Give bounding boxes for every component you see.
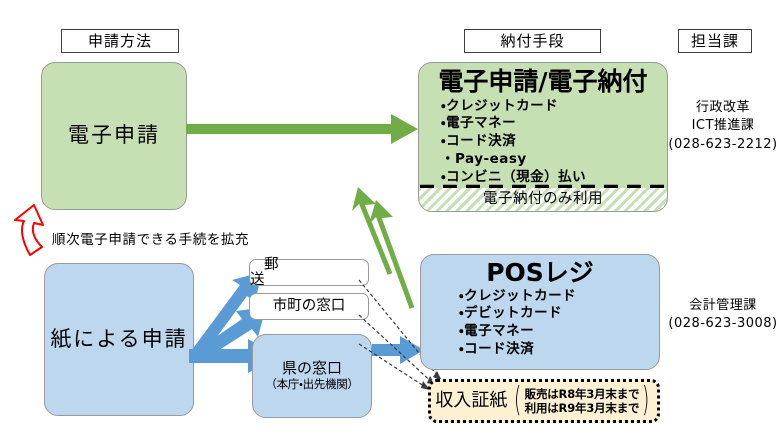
bullet-code-payment: ・コード決済 — [441, 133, 586, 151]
header-payment-method: 納付手段 — [464, 29, 601, 53]
diagram-canvas: 申請方法 納付手段 担当課 電子申請 電子申請/電子納付 ・クレジットカード ・… — [0, 0, 778, 438]
revenue-stamp-note-line1: 販売はR8年3月末まで — [525, 387, 640, 401]
dept-ict-section: 行政改革 ICT推進課 (028-623-2212) — [668, 99, 778, 154]
dept-ict-line2: ICT推進課 — [668, 117, 778, 135]
arrow-online-to-epay — [186, 110, 426, 150]
box-online-application[interactable]: 電子申請 — [41, 62, 187, 210]
pos-bullet-code-payment: ・コード決済 — [459, 341, 576, 359]
box-online-application-label: 電子申請 — [68, 124, 160, 147]
dept-accounting-section: 会計管理課 (028-623-3008) — [668, 297, 778, 334]
box-electronic-payment-bullets: ・クレジットカード ・電子マネー ・コード決済 ・Pay-easy ・コンビニ（… — [441, 98, 586, 188]
dept-ict-phone: (028-623-2212) — [668, 136, 778, 154]
bullet-credit-card: ・クレジットカード — [441, 98, 586, 116]
dept-accounting-phone: (028-623-3008) — [668, 315, 778, 333]
dept-accounting-line1: 会計管理課 — [668, 297, 778, 315]
expansion-note-label: 順次電子申請できる手続を拡充 — [52, 232, 249, 248]
pill-mail-label: 郵 送 — [250, 258, 368, 287]
pill-mail[interactable]: 郵 送 — [249, 259, 369, 286]
box-pref-counter[interactable]: 県の窓口 （本庁・出先機関） — [252, 334, 372, 418]
box-revenue-stamp-note: ( 販売はR8年3月末まで 利用はR9年3月末まで ) — [511, 387, 652, 415]
header-responsible-section-label: 担当課 — [691, 34, 739, 49]
box-pos-register-bullets: ・クレジットカード ・デビットカード ・電子マネー ・コード決済 — [459, 288, 576, 360]
expansion-note: 順次電子申請できる手続を拡充 — [52, 228, 249, 248]
box-pos-register-title: POSレジ — [486, 259, 594, 287]
header-payment-method-label: 納付手段 — [500, 34, 564, 49]
box-pos-register[interactable]: POSレジ ・クレジットカード ・デビットカード ・電子マネー ・コード決済 — [420, 254, 660, 370]
box-revenue-stamp-title: 収入証紙 — [435, 392, 507, 410]
bullet-pay-easy: ・Pay-easy — [441, 151, 586, 169]
box-revenue-stamp[interactable]: 収入証紙 ( 販売はR8年3月末まで 利用はR9年3月末まで ) — [428, 379, 660, 423]
pos-bullet-credit-card: ・クレジットカード — [459, 288, 576, 306]
hatched-strip-label: 電子納付のみ利用 — [483, 192, 603, 207]
brace-right-icon: ) — [642, 387, 649, 414]
dept-ict-line1: 行政改革 — [668, 99, 778, 117]
bullet-e-money: ・電子マネー — [441, 115, 586, 133]
box-pref-counter-label: 県の窓口 — [282, 360, 342, 377]
header-responsible-section: 担当課 — [678, 29, 752, 53]
revenue-stamp-note-line2: 利用はR9年3月末まで — [525, 401, 640, 415]
pill-city-counter-label: 市町の窓口 — [273, 299, 346, 314]
box-paper-application-label: 紙による申請 — [50, 328, 187, 351]
brace-left-icon: ( — [514, 387, 521, 414]
header-application-method-label: 申請方法 — [88, 34, 152, 49]
box-electronic-payment-title: 電子申請/電子納付 — [438, 68, 647, 96]
pos-bullet-e-money: ・電子マネー — [459, 323, 576, 341]
box-paper-application[interactable]: 紙による申請 — [44, 263, 194, 416]
box-pref-counter-sublabel: （本庁・出先機関） — [265, 377, 358, 392]
pill-city-counter[interactable]: 市町の窓口 — [249, 293, 369, 320]
pos-bullet-debit-card: ・デビットカード — [459, 305, 576, 323]
header-application-method: 申請方法 — [61, 29, 179, 53]
